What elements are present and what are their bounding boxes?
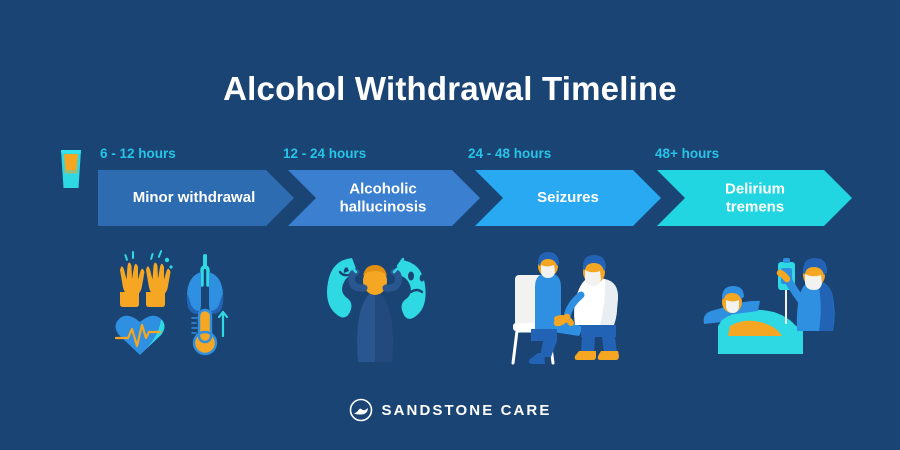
illustration-seizures <box>505 245 645 365</box>
arrow-label-stage-1: Minor withdrawal <box>108 189 280 207</box>
brand-name: SANDSTONE CARE <box>382 402 552 419</box>
shaking-hands-icon <box>120 250 173 307</box>
lungs-icon <box>187 254 223 314</box>
illustration-delirium-tremens <box>700 248 840 366</box>
time-label-stage-3: 24 - 48 hours <box>468 146 551 161</box>
timeline-arrows: Minor withdrawal Alcoholic hallucinosis … <box>0 170 900 226</box>
heart-rate-icon <box>116 316 165 355</box>
illustration-hallucinosis <box>310 238 440 363</box>
mountain-circle-logo <box>349 398 373 422</box>
patient-in-bed-icon <box>704 286 803 354</box>
doctor-icon <box>557 255 619 360</box>
illustration-minor-withdrawal <box>110 240 240 360</box>
infographic-canvas: Alcohol Withdrawal Timeline 6 - 12 hours… <box>0 0 900 450</box>
arrow-label-stage-2: Alcoholic hallucinosis <box>300 180 466 215</box>
person-holding-head-icon <box>345 259 405 362</box>
brand-logo: SANDSTONE CARE <box>0 398 900 422</box>
timeline: 6 - 12 hours 12 - 24 hours 24 - 48 hours… <box>0 146 900 236</box>
arrow-label-stage-3: Seizures <box>488 189 648 207</box>
time-label-stage-1: 6 - 12 hours <box>100 146 176 161</box>
time-label-stage-2: 12 - 24 hours <box>283 146 366 161</box>
page-title: Alcohol Withdrawal Timeline <box>0 70 900 108</box>
thermometer-icon <box>192 310 227 354</box>
time-label-stage-4: 48+ hours <box>655 146 719 161</box>
arrow-label-stage-4: Delirium tremens <box>672 180 838 215</box>
